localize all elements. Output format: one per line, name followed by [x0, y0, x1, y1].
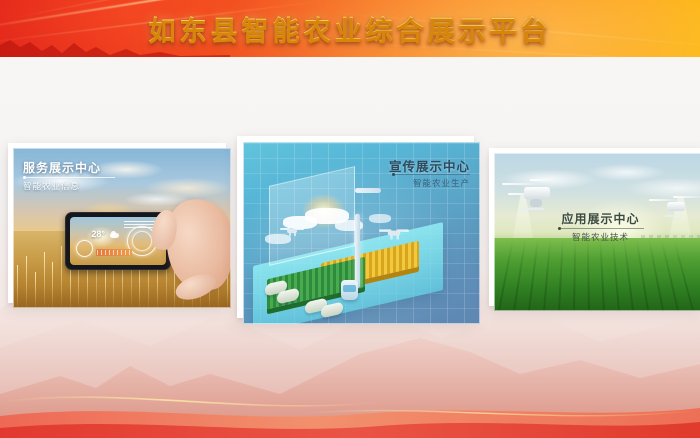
card-promotion-image: 宣传展示中心 智能农业生产	[243, 142, 480, 324]
cloud	[265, 234, 291, 244]
screen-temperature: 28°	[91, 229, 105, 239]
drone-icon	[502, 175, 576, 215]
card-title-application: 应用展示中心	[494, 210, 700, 227]
page-title: 如东县智能农业综合展示平台	[0, 0, 700, 57]
card-subtitle-promotion: 智能农业生产	[413, 177, 470, 189]
card-title-rule	[558, 228, 644, 229]
card-service-display-center[interactable]: 28° 服务展示中心 智能农业信息	[8, 143, 226, 303]
card-promotion-display-center[interactable]: 宣传展示中心 智能农业生产	[237, 136, 474, 318]
card-title-service: 服务展示中心	[23, 159, 101, 176]
drone-icon	[281, 226, 303, 235]
card-title-rule	[392, 174, 470, 175]
water-tank	[341, 280, 358, 300]
drone-icon	[380, 227, 408, 238]
cloud-icon	[110, 233, 119, 238]
card-service-image: 28° 服务展示中心 智能农业信息	[13, 148, 231, 308]
card-subtitle-service: 智能农业信息	[23, 180, 80, 192]
screen-info-chip	[96, 249, 132, 256]
page-root: 如东县智能农业综合展示平台	[0, 0, 700, 438]
card-application-display-center[interactable]: 应用展示中心 智能农业技术	[489, 148, 700, 306]
cloud	[369, 214, 391, 223]
card-subtitle-application: 智能农业技术	[494, 231, 700, 243]
green-field	[494, 238, 700, 311]
pole-arm	[355, 188, 381, 193]
smart-light-pole	[355, 214, 360, 288]
header-banner: 如东县智能农业综合展示平台	[0, 0, 700, 57]
hud-ring-small	[76, 240, 93, 257]
card-title-promotion: 宣传展示中心	[389, 156, 470, 175]
card-title-rule	[23, 177, 115, 178]
card-application-image: 应用展示中心 智能农业技术	[494, 153, 700, 311]
